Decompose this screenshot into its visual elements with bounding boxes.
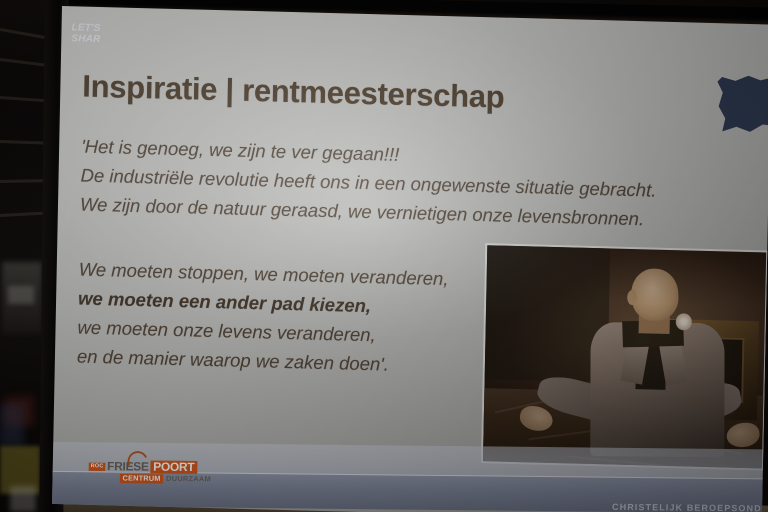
slide-photo-frame [481, 243, 768, 470]
lets-share-badge-text: LET'S SHAR [71, 22, 101, 45]
slide-photo-portrait [483, 245, 766, 468]
projection-screen: Inspiratie | rentmeesterschap 'Het is ge… [52, 6, 768, 512]
slide-title: Inspiratie | rentmeesterschap [82, 69, 505, 116]
room-environment: Inspiratie | rentmeesterschap 'Het is ge… [0, 0, 768, 512]
roc-friese-poort-logo: ROC FRIESE POORT CENTRUM DUURZAAM [88, 460, 211, 484]
projection-screen-wrapper: Inspiratie | rentmeesterschap 'Het is ge… [52, 6, 768, 512]
quote-paragraph-first: 'Het is genoeg, we zijn te ver gegaan!!!… [80, 132, 657, 234]
background-object-blue [0, 404, 24, 446]
photo-person-head [630, 268, 680, 322]
badge-line-2: SHAR [71, 33, 100, 45]
logo-duurzaam-label: DUURZAAM [166, 474, 211, 484]
quote-paragraph-second: We moeten stoppen, we moeten veranderen,… [77, 255, 449, 381]
logo-poort-label: POORT [150, 460, 197, 473]
photo-person-ear [627, 290, 637, 305]
footer-tagline: CHRISTELIJK BEROEPSOND [612, 502, 762, 512]
badge-line-1: LET'S [71, 22, 100, 34]
slide: Inspiratie | rentmeesterschap 'Het is ge… [52, 6, 768, 512]
background-window-highlight [8, 286, 34, 304]
logo-roc-label: ROC [89, 462, 106, 470]
background-object-pale [10, 486, 36, 512]
logo-row-primary: ROC FRIESE POORT [89, 460, 198, 474]
lets-share-badge-shape [715, 75, 768, 134]
logo-centrum-label: CENTRUM [120, 474, 164, 484]
logo-row-secondary: CENTRUM DUURZAAM [120, 474, 211, 484]
